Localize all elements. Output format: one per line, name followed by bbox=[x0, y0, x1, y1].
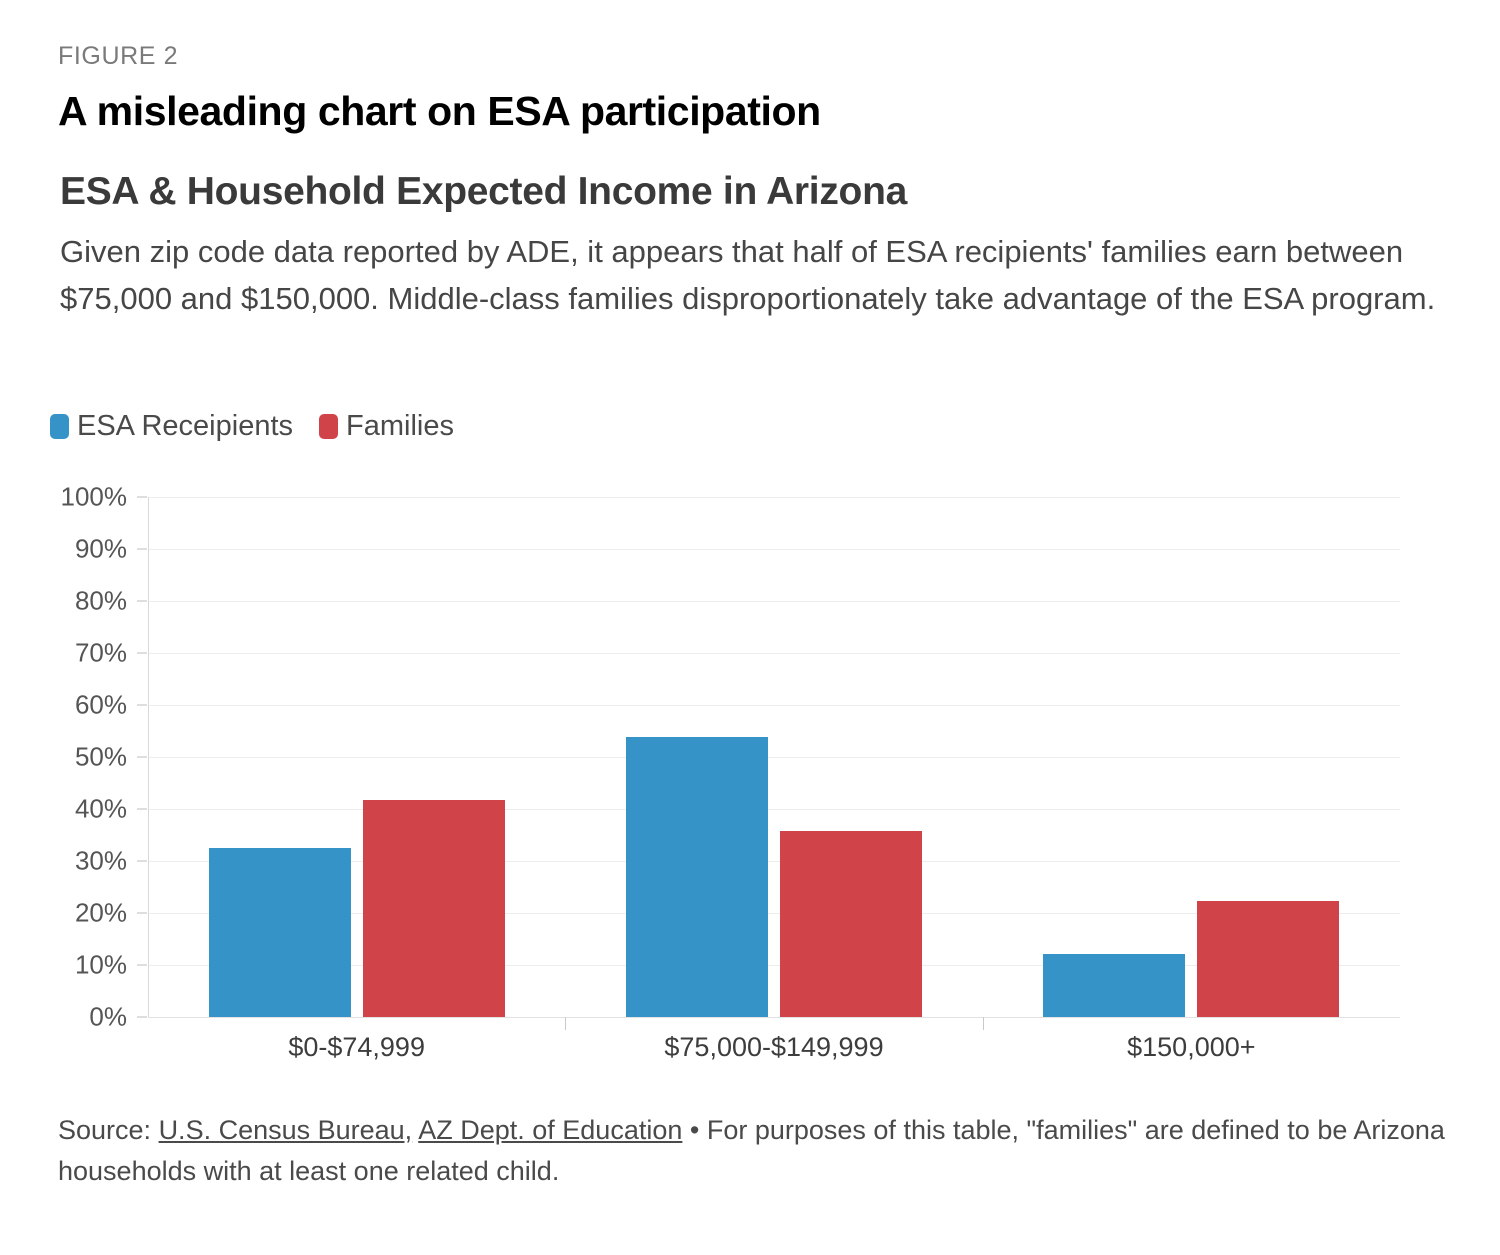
y-axis-tick-label: 60% bbox=[0, 690, 135, 721]
legend-swatch-icon bbox=[50, 414, 69, 439]
y-axis-tick-mark bbox=[137, 757, 147, 758]
y-axis-labels: 0%10%20%30%40%50%60%70%80%90%100% bbox=[0, 470, 135, 1030]
footer-link-census[interactable]: U.S. Census Bureau, bbox=[159, 1115, 413, 1145]
y-axis-tick-mark bbox=[137, 705, 147, 706]
bar-families-3[interactable] bbox=[1197, 901, 1339, 1017]
y-axis-tick-mark bbox=[137, 965, 147, 966]
y-axis-tick-mark bbox=[137, 809, 147, 810]
y-axis-tick-mark bbox=[137, 653, 147, 654]
bar-families-1[interactable] bbox=[363, 800, 505, 1017]
figure-label: FIGURE 2 bbox=[58, 42, 178, 71]
y-axis-tick-mark bbox=[137, 913, 147, 914]
chart-footer: Source: U.S. Census Bureau, AZ Dept. of … bbox=[58, 1110, 1458, 1192]
y-axis-tick-mark bbox=[137, 861, 147, 862]
x-axis-category-label: $150,000+ bbox=[1127, 1032, 1255, 1063]
x-axis-tick-mark bbox=[983, 1017, 984, 1030]
y-axis-tick-mark bbox=[137, 1017, 147, 1018]
y-axis-tick-label: 70% bbox=[0, 638, 135, 669]
chart-title: ESA & Household Expected Income in Arizo… bbox=[60, 170, 907, 214]
x-axis-category-label: $0-$74,999 bbox=[288, 1032, 425, 1063]
y-axis-tick-label: 90% bbox=[0, 534, 135, 565]
x-axis-labels: $0-$74,999$75,000-$149,999$150,000+ bbox=[148, 1032, 1400, 1082]
chart-legend: ESA ReceipientsFamilies bbox=[50, 410, 454, 443]
figure-page: FIGURE 2 A misleading chart on ESA parti… bbox=[0, 0, 1500, 1255]
footer-source-prefix: Source: bbox=[58, 1115, 159, 1145]
y-axis-tick-label: 10% bbox=[0, 950, 135, 981]
y-axis-tick-label: 50% bbox=[0, 742, 135, 773]
footer-link-ade[interactable]: AZ Dept. of Education bbox=[418, 1115, 682, 1145]
y-axis-tick-mark bbox=[137, 497, 147, 498]
chart-plot-area: 0%10%20%30%40%50%60%70%80%90%100% $0-$74… bbox=[0, 470, 1500, 1090]
figure-title: A misleading chart on ESA participation bbox=[58, 88, 821, 135]
footer-separator: • bbox=[682, 1115, 706, 1145]
bar-families-2[interactable] bbox=[780, 831, 922, 1017]
chart-subtitle: Given zip code data reported by ADE, it … bbox=[60, 228, 1480, 322]
bar-esa-receipients-3[interactable] bbox=[1043, 954, 1185, 1017]
y-axis-tick-mark bbox=[137, 549, 147, 550]
legend-item-2[interactable]: Families bbox=[319, 410, 454, 443]
legend-label: Families bbox=[346, 410, 454, 443]
y-axis-tick-mark bbox=[137, 601, 147, 602]
y-axis-tick-label: 100% bbox=[0, 482, 135, 513]
y-axis-tick-label: 20% bbox=[0, 898, 135, 929]
y-axis-tick-label: 30% bbox=[0, 846, 135, 877]
y-axis-tick-label: 40% bbox=[0, 794, 135, 825]
y-axis-tick-label: 80% bbox=[0, 586, 135, 617]
legend-swatch-icon bbox=[319, 414, 338, 439]
x-axis-category-label: $75,000-$149,999 bbox=[664, 1032, 883, 1063]
chart-bars bbox=[148, 470, 1400, 1030]
legend-label: ESA Receipients bbox=[77, 410, 293, 443]
bar-esa-receipients-1[interactable] bbox=[209, 848, 351, 1017]
x-axis-tick-mark bbox=[565, 1017, 566, 1030]
legend-item-1[interactable]: ESA Receipients bbox=[50, 410, 293, 443]
y-axis-tick-label: 0% bbox=[0, 1002, 135, 1033]
x-axis-ticks bbox=[148, 1017, 1400, 1031]
bar-esa-receipients-2[interactable] bbox=[626, 737, 768, 1017]
